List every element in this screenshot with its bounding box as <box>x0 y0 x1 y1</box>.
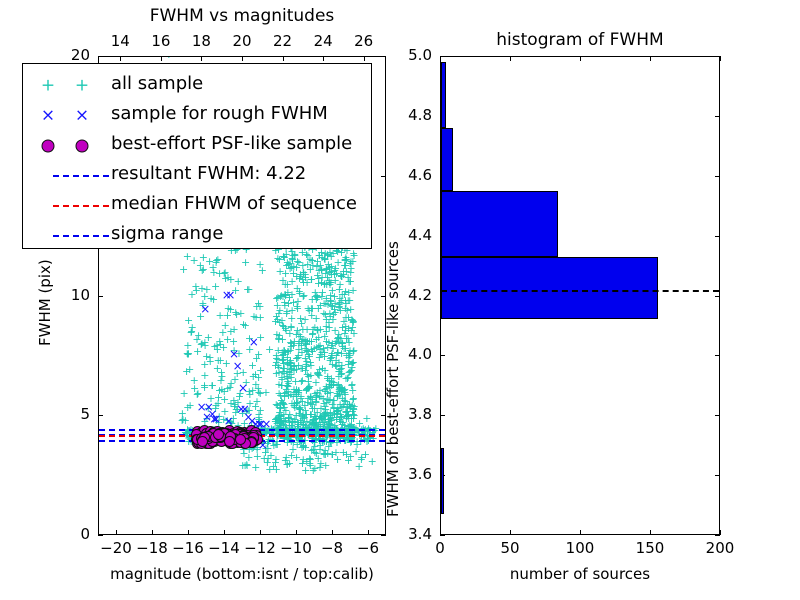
scatter-point-all: + <box>288 254 297 265</box>
left-ytick-label: 20 <box>50 46 90 64</box>
scatter-point-all: + <box>322 326 331 337</box>
histogram-bar <box>441 448 444 514</box>
scatter-point-all: + <box>187 327 196 338</box>
scatter-point-all: + <box>286 389 295 400</box>
scatter-point-all: + <box>254 349 263 360</box>
scatter-point-all: + <box>287 338 296 349</box>
legend-marker-alt-1: × <box>65 100 99 131</box>
left-ytick-right <box>381 535 386 536</box>
scatter-point-all: + <box>230 324 239 335</box>
scatter-point-all: + <box>311 291 320 302</box>
scatter-point-all: + <box>193 389 202 400</box>
scatter-point-all: + <box>337 386 346 397</box>
legend-marker-1: × <box>31 100 65 131</box>
scatter-point-all: + <box>331 307 340 318</box>
legend-plus-icon: + <box>41 77 55 94</box>
right-xtick-label: 150 <box>628 539 672 557</box>
figure-canvas: FWHM vs magnitudes14161820222426−20−18−1… <box>0 0 800 600</box>
histogram-marker-line <box>441 290 719 292</box>
scatter-point-rough: × <box>233 360 243 372</box>
scatter-point-all: + <box>217 367 226 378</box>
scatter-point-all: + <box>179 264 188 275</box>
right-ytick-label: 5.0 <box>388 46 432 64</box>
left-xtick-top-label: 20 <box>220 32 264 50</box>
scatter-point-all: + <box>220 386 229 397</box>
legend-dot-icon <box>42 139 55 152</box>
scatter-point-all: + <box>286 357 295 368</box>
legend-label-0: all sample <box>111 73 203 94</box>
scatter-point-all: + <box>286 369 295 380</box>
left-ytick-label: 10 <box>50 286 90 304</box>
legend-plus-icon: + <box>75 77 89 94</box>
scatter-point-all: + <box>275 266 284 277</box>
scatter-point-all: + <box>202 284 211 295</box>
scatter-point-all: + <box>200 340 209 351</box>
left-xtick-top-label: 16 <box>139 32 183 50</box>
scatter-point-all: + <box>333 454 342 465</box>
scatter-point-all: + <box>243 284 252 295</box>
legend-dot-icon <box>76 139 89 152</box>
legend-item-5[interactable]: sigma range <box>23 220 371 251</box>
scatter-point-all: + <box>211 281 220 292</box>
legend-label-3: resultant FWHM: 4.22 <box>111 163 306 184</box>
scatter-point-psf <box>213 429 224 440</box>
left-xtick-bottom-label: −6 <box>344 539 392 557</box>
histogram-bar <box>441 191 558 257</box>
scatter-point-all: + <box>251 379 260 390</box>
scatter-point-all: + <box>326 296 335 307</box>
scatter-point-all: + <box>315 344 324 355</box>
left-plot-title: FWHM vs magnitudes <box>38 6 446 26</box>
scatter-point-all: + <box>302 361 311 372</box>
right-yaxis-label: FWHM of best-effort PSF-like sources <box>384 241 402 517</box>
legend-label-5: sigma range <box>111 223 223 244</box>
legend-item-0[interactable]: ++all sample <box>23 70 371 101</box>
left-ytick-label: 5 <box>50 405 90 423</box>
scatter-point-all: + <box>213 254 222 265</box>
right-data-region <box>441 57 719 534</box>
legend-marker-alt-0: + <box>65 70 99 101</box>
scatter-point-all: + <box>263 457 272 468</box>
scatter-point-all: + <box>231 307 240 318</box>
scatter-point-rough: × <box>202 411 212 423</box>
scatter-point-all: + <box>280 289 289 300</box>
legend-box: ++all sample××sample for rough FWHMbest-… <box>22 63 372 249</box>
left-xtick-top-label: 22 <box>261 32 305 50</box>
left-ytick-label: 0 <box>50 525 90 543</box>
scatter-point-all: + <box>256 312 265 323</box>
legend-item-2[interactable]: best-effort PSF-like sample <box>23 130 371 161</box>
scatter-point-all: + <box>334 357 343 368</box>
legend-cross-icon: × <box>41 107 55 124</box>
histogram-bar <box>441 62 446 128</box>
scatter-point-rough: × <box>200 303 210 315</box>
right-ytick-label: 4.8 <box>388 106 432 124</box>
scatter-point-all: + <box>187 289 196 300</box>
scatter-point-all: + <box>346 267 355 278</box>
scatter-point-all: + <box>293 301 302 312</box>
scatter-point-all: + <box>344 455 353 466</box>
scatter-point-rough: × <box>249 336 259 348</box>
right-xtick-label: 200 <box>698 539 742 557</box>
scatter-point-all: + <box>320 365 329 376</box>
histogram-bar <box>441 128 453 191</box>
legend-item-4[interactable]: median FHWM of sequence <box>23 190 371 221</box>
left-yaxis-label: FWHM (pix) <box>36 259 54 346</box>
legend-label-2: best-effort PSF-like sample <box>111 133 352 154</box>
scatter-point-all: + <box>335 284 344 295</box>
scatter-point-all: + <box>361 449 370 460</box>
scatter-point-all: + <box>298 260 307 271</box>
scatter-point-all: + <box>287 313 296 324</box>
scatter-point-all: + <box>200 359 209 370</box>
right-xtick <box>720 530 721 535</box>
right-xaxis-label: number of sources <box>400 565 760 583</box>
right-ytick-label: 4.6 <box>388 166 432 184</box>
scatter-point-all: + <box>323 448 332 459</box>
scatter-point-all: + <box>209 294 218 305</box>
scatter-point-all: + <box>348 315 357 326</box>
scatter-point-all: + <box>223 272 232 283</box>
scatter-point-all: + <box>241 257 250 268</box>
scatter-point-all: + <box>319 411 328 422</box>
scatter-point-psf <box>197 436 208 447</box>
scatter-point-all: + <box>282 459 291 470</box>
scatter-point-all: + <box>297 318 306 329</box>
scatter-point-all: + <box>239 319 248 330</box>
scatter-point-all: + <box>349 285 358 296</box>
left-xaxis-label: magnitude (bottom:isnt / top:calib) <box>38 565 446 583</box>
right-plot-title: histogram of FWHM <box>400 30 760 50</box>
right-xtick-top <box>720 56 721 61</box>
right-ytick-label: 3.4 <box>388 525 432 543</box>
legend-marker-2 <box>31 130 65 161</box>
right-xtick-label: 50 <box>488 539 532 557</box>
scatter-point-all: + <box>276 403 285 414</box>
scatter-point-all: + <box>199 264 208 275</box>
scatter-point-all: + <box>185 364 194 375</box>
legend-label-4: median FHWM of sequence <box>111 193 357 214</box>
scatter-point-all: + <box>318 393 327 404</box>
legend-line-icon-4 <box>53 205 109 207</box>
legend-item-1[interactable]: ××sample for rough FWHM <box>23 100 371 131</box>
legend-marker-0: + <box>31 70 65 101</box>
scatter-point-all: + <box>164 57 173 60</box>
scatter-point-all: + <box>308 415 317 426</box>
scatter-point-rough: × <box>238 382 248 394</box>
legend-line-icon-3 <box>53 175 109 177</box>
scatter-point-all: + <box>186 400 195 411</box>
scatter-point-all: + <box>252 301 261 312</box>
legend-marker-alt-2 <box>65 130 99 161</box>
scatter-point-all: + <box>216 355 225 366</box>
scatter-point-all: + <box>313 256 322 267</box>
right-ytick-right <box>715 535 720 536</box>
scatter-point-all: + <box>301 335 310 346</box>
scatter-point-all: + <box>306 460 315 471</box>
scatter-point-all: + <box>273 300 282 311</box>
scatter-point-all: + <box>255 259 264 270</box>
scatter-point-all: + <box>278 347 287 358</box>
legend-label-1: sample for rough FWHM <box>111 103 328 124</box>
right-ytick <box>440 535 445 536</box>
legend-item-3[interactable]: resultant FWHM: 4.22 <box>23 160 371 191</box>
scatter-point-all: + <box>344 348 353 359</box>
left-xtick-top-label: 24 <box>301 32 345 50</box>
scatter-point-all: + <box>333 347 342 358</box>
scatter-point-all: + <box>336 369 345 380</box>
scatter-point-all: + <box>322 279 331 290</box>
left-ytick <box>98 535 103 536</box>
left-xtick-top-label: 18 <box>179 32 223 50</box>
right-xtick-label: 100 <box>558 539 602 557</box>
scatter-point-all: + <box>183 349 192 360</box>
left-xtick-top-label: 26 <box>342 32 386 50</box>
scatter-point-all: + <box>199 252 208 263</box>
scatter-point-all: + <box>243 460 252 471</box>
scatter-point-all: + <box>336 399 345 410</box>
left-xtick-top-label: 14 <box>98 32 142 50</box>
scatter-point-rough: × <box>225 289 235 301</box>
legend-cross-icon: × <box>75 107 89 124</box>
legend-line-icon-5 <box>53 235 109 237</box>
scatter-point-all: + <box>180 388 189 399</box>
histogram-bar <box>441 257 658 320</box>
